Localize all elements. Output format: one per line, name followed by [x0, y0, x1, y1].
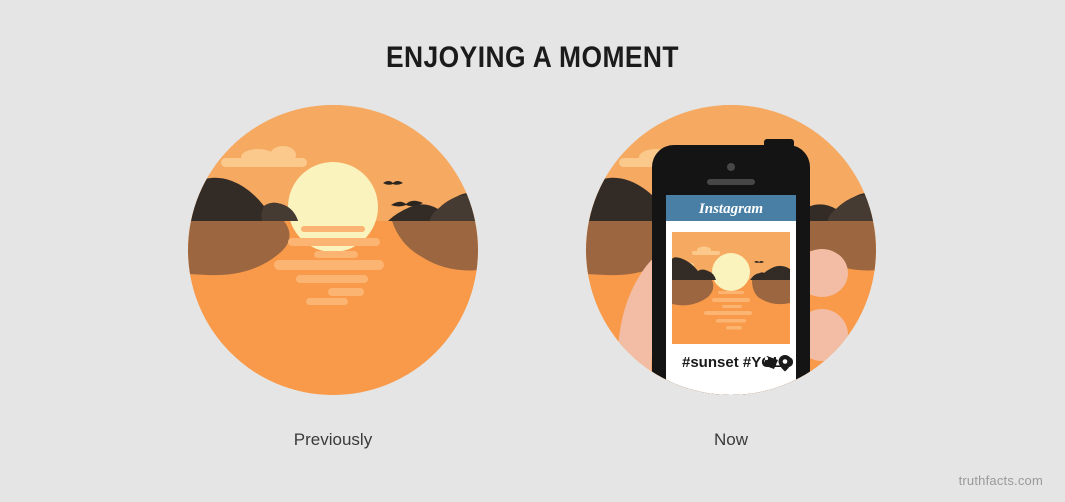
comic-panel-container: ENJOYING A MOMENT — [0, 0, 1065, 502]
instagram-photo — [672, 232, 790, 344]
photo-sun — [712, 253, 750, 291]
watermark: truthfacts.com — [959, 473, 1043, 488]
illustration-previously — [188, 105, 478, 395]
panel-previously: Previously — [188, 105, 478, 395]
panel-now: Instagram — [586, 105, 876, 395]
front-camera-icon — [727, 163, 735, 171]
earpiece-speaker-icon — [707, 179, 755, 185]
sunset-scene-svg — [188, 105, 478, 395]
panel-caption-previously: Previously — [188, 430, 478, 450]
instagram-wordmark: Instagram — [698, 201, 763, 217]
power-button-icon[interactable] — [764, 139, 794, 148]
instagram-caption-text: #sunset #YOLO — [682, 354, 794, 371]
phone-scene-svg: Instagram — [586, 105, 876, 395]
panel-caption-now: Now — [586, 430, 876, 450]
illustration-now: Instagram — [586, 105, 876, 395]
page-title: ENJOYING A MOMENT — [64, 41, 1001, 75]
